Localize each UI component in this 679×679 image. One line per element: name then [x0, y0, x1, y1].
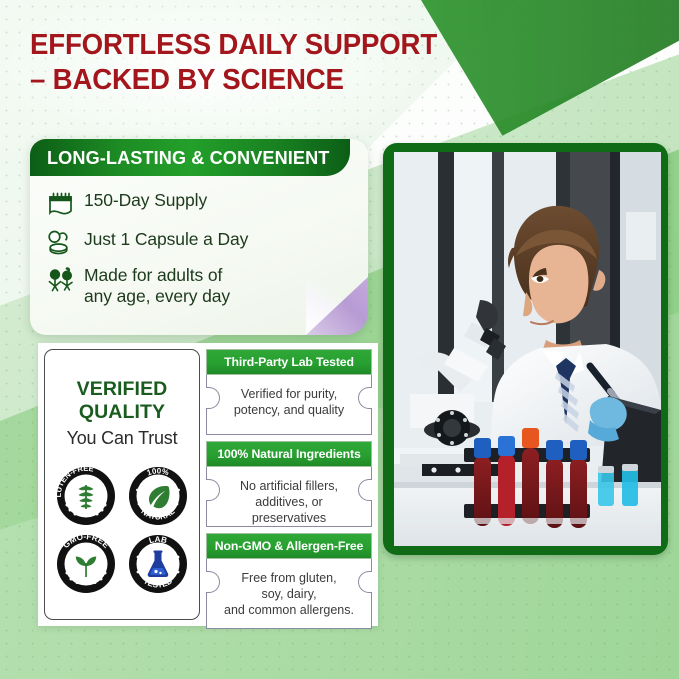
page-title-line-2: – BACKED BY SCIENCE: [30, 63, 486, 98]
claim-card-header: Third-Party Lab Tested: [206, 349, 372, 375]
claim-card-text: Free from gluten, soy, dairy, and common…: [219, 570, 359, 618]
notch-left-icon: [206, 479, 220, 501]
notch-right-icon: [358, 387, 372, 409]
claim-card-header: Non-GMO & Allergen-Free: [206, 533, 372, 559]
claim-card-body: Verified for purity, potency, and qualit…: [206, 375, 372, 435]
photo-frame: [383, 143, 668, 555]
lab-scientist-microscope-photo: [394, 152, 661, 546]
list-item-label: Just 1 Capsule a Day: [84, 229, 248, 250]
claim-card-header-label: Non-GMO & Allergen-Free: [215, 539, 363, 553]
svg-text:LAB: LAB: [148, 535, 168, 545]
claim-card-text: Verified for purity, potency, and qualit…: [219, 386, 359, 418]
claim-card-header-label: Third-Party Lab Tested: [224, 355, 354, 369]
list-item-label: Made for adults ofany age, every day: [84, 265, 230, 307]
claims-list: Third-Party Lab Tested Verified for puri…: [206, 349, 372, 635]
long-lasting-banner-label: LONG-LASTING & CONVENIENT: [47, 147, 329, 169]
notch-left-icon: [206, 387, 220, 409]
quality-panel: VERIFIED QUALITY You Can Trust GLUTEN-FR…: [38, 343, 378, 626]
claim-card: Non-GMO & Allergen-Free Free from gluten…: [206, 533, 372, 629]
notch-left-icon: [206, 571, 220, 593]
gmo-free-badge: GMO-FREE: [55, 533, 117, 595]
calendar-icon: [44, 188, 78, 218]
claim-card: Third-Party Lab Tested Verified for puri…: [206, 349, 372, 435]
long-lasting-banner: LONG-LASTING & CONVENIENT: [30, 139, 350, 176]
natural-badge: 100% NATURAL: [127, 465, 189, 527]
capsule-icon: [44, 227, 78, 257]
gluten-free-badge: GLUTEN-FREE: [55, 465, 117, 527]
page-title: EFFORTLESS DAILY SUPPORT – BACKED BY SCI…: [30, 28, 500, 98]
claim-card: 100% Natural Ingredients No artificial f…: [206, 441, 372, 527]
claim-card-text: No artificial fillers, additives, or pre…: [219, 478, 359, 526]
notch-right-icon: [358, 571, 372, 593]
long-lasting-card: LONG-LASTING & CONVENIENT 150-Day Supply: [30, 139, 368, 335]
lab-tested-badge: LAB TESTED: [127, 533, 189, 595]
notch-right-icon: [358, 479, 372, 501]
people-icon: [44, 266, 78, 296]
list-item: Just 1 Capsule a Day: [30, 218, 368, 257]
claim-card-body: Free from gluten, soy, dairy, and common…: [206, 559, 372, 629]
claim-card-header-label: 100% Natural Ingredients: [217, 447, 360, 461]
list-item-label: 150-Day Supply: [84, 190, 207, 211]
verified-quality-title: VERIFIED QUALITY: [77, 378, 168, 424]
infographic-page: EFFORTLESS DAILY SUPPORT – BACKED BY SCI…: [0, 0, 679, 679]
page-title-line-1: EFFORTLESS DAILY SUPPORT: [30, 28, 486, 63]
verified-quality-box: VERIFIED QUALITY You Can Trust GLUTEN-FR…: [44, 349, 200, 620]
claim-card-body: No artificial fillers, additives, or pre…: [206, 467, 372, 527]
list-item: 150-Day Supply: [30, 179, 368, 218]
verified-quality-subtitle: You Can Trust: [67, 428, 178, 449]
claim-card-header: 100% Natural Ingredients: [206, 441, 372, 467]
certification-badges: GLUTEN-FREE: [55, 465, 189, 595]
